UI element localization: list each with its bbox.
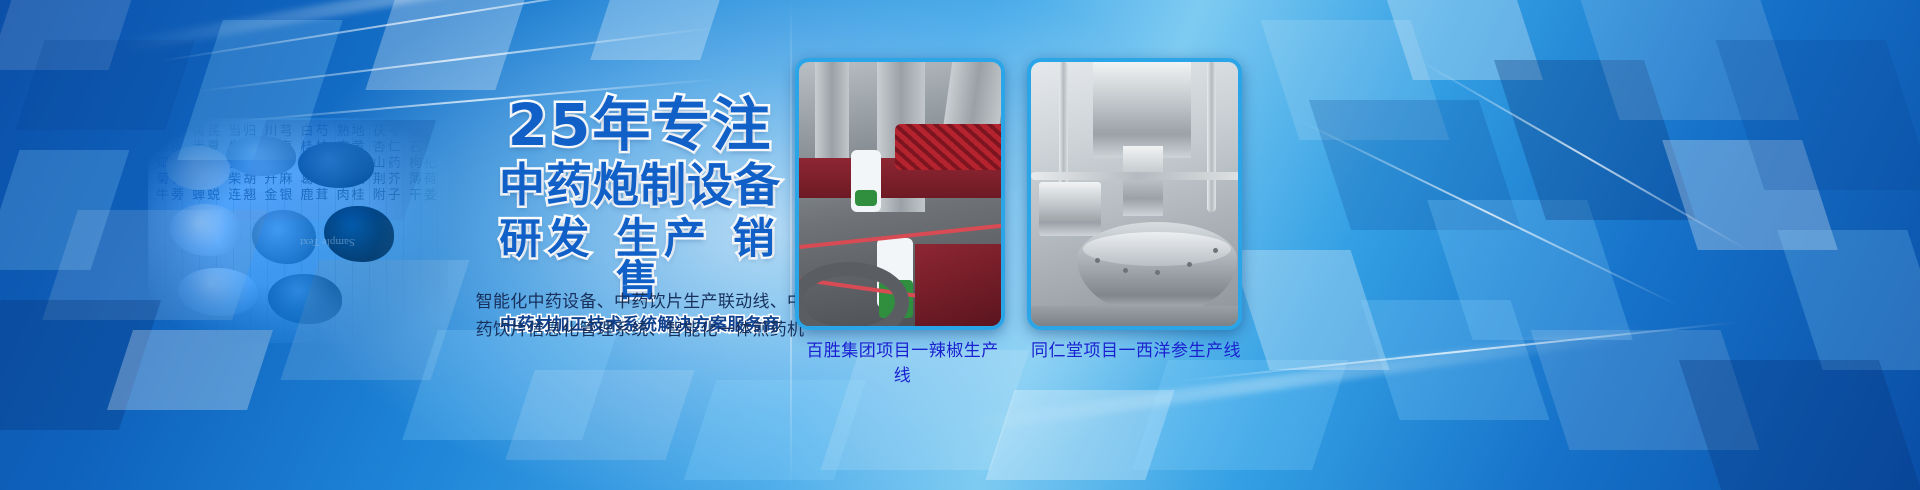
herb-photo: 人参 黄芪 当归 川芎 白芍 熟地 茯苓 甘草 陈皮 半夏 生姜 大枣 桂枝 麻… — [148, 118, 448, 343]
tank-bolt-3 — [1155, 270, 1160, 275]
tank-lid — [1083, 232, 1231, 266]
tank-bolt-4 — [1187, 262, 1192, 267]
red-equipment — [915, 244, 1005, 330]
chili-photo-inner — [799, 62, 1001, 326]
chili-bed — [895, 124, 1005, 170]
herb-slice-8 — [268, 274, 342, 324]
machine-frame — [1093, 62, 1191, 158]
chili-production-line-photo[interactable] — [795, 58, 1005, 330]
floor — [1031, 306, 1242, 330]
tank-bolt-1 — [1095, 258, 1100, 263]
herb-slice-4 — [170, 204, 242, 256]
ginseng-photo-inner — [1031, 62, 1238, 326]
herb-slice-3 — [298, 142, 374, 188]
promo-banner: 人参 黄芪 当归 川芎 白芍 熟地 茯苓 甘草 陈皮 半夏 生姜 大枣 桂枝 麻… — [0, 0, 1920, 490]
herb-slice-1 — [166, 146, 230, 190]
worker-upper-gloves — [855, 190, 877, 206]
pipe-vertical-2 — [1207, 62, 1216, 212]
headline-line-2: 中药炮制设备 — [490, 162, 790, 208]
pipe-horizontal — [1031, 172, 1242, 180]
headline-line-1: 25年专注 — [490, 96, 790, 154]
machine-column — [1123, 146, 1163, 216]
american-ginseng-production-line-photo[interactable] — [1027, 58, 1242, 330]
tank-bolt-5 — [1213, 248, 1218, 253]
herb-slice-6 — [324, 206, 394, 262]
tank-bolt-2 — [1123, 268, 1128, 273]
headline-description: 智能化中药设备、中药饮片生产联动线、中药饮片信息化管理系统、智能化一体煎药机 — [470, 288, 810, 344]
photo-1-caption: 百胜集团项目一辣椒生产线 — [800, 336, 1005, 386]
section-divider — [790, 0, 792, 490]
control-box — [1039, 182, 1101, 236]
photo-2-caption: 同仁堂项目一西洋参生产线 — [1030, 336, 1242, 361]
herb-slice-2 — [226, 136, 296, 176]
sample-watermark: Sample Text — [300, 235, 355, 249]
